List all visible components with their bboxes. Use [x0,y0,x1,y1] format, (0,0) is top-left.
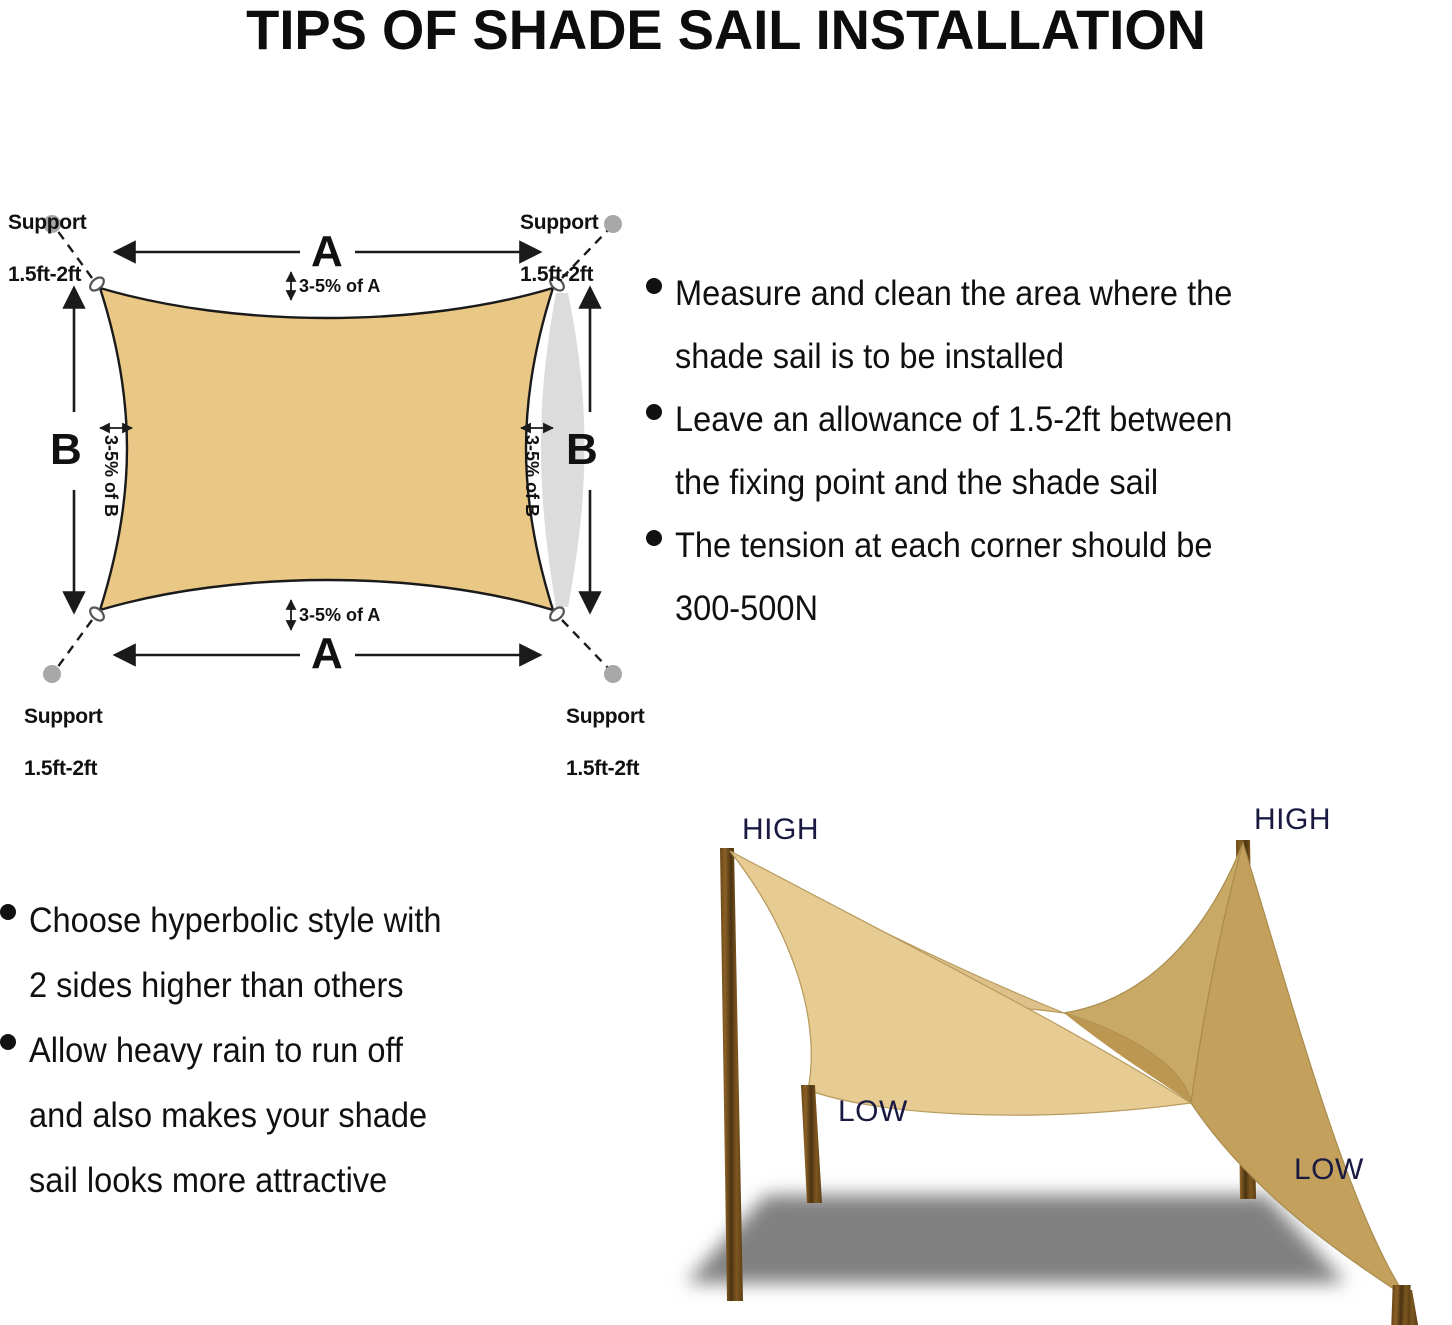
support-label-bottom-right: Support 1.5ft-2ft [566,678,644,782]
installation-tips-list: Measure and clean the area where the sha… [646,262,1452,640]
corner-label-high-left: HIGH [742,813,819,847]
support-label-line2: 1.5ft-2ft [8,263,81,286]
curve-depth-label-right: 3-5% of B [523,435,541,517]
corner-label-high-right: HIGH [1254,803,1331,837]
tip-text: The tension at each corner should be 300… [675,514,1398,640]
tip-text: Allow heavy rain to run off and also mak… [29,1018,588,1213]
support-label-line2: 1.5ft-2ft [24,757,97,780]
tip-text: Leave an allowance of 1.5-2ft between th… [675,388,1398,514]
infographic-page: TIPS OF SHADE SAIL INSTALLATION [0,0,1452,1325]
support-label-top-right: Support 1.5ft-2ft [520,184,598,288]
installation-tips-section: Measure and clean the area where the sha… [646,262,1452,662]
bullet-dot-icon [646,278,662,294]
dimension-label-b-left: B [50,428,82,472]
hyperbolic-tips-list: Choose hyperbolic style with 2 sides hig… [0,888,630,1213]
support-label-line1: Support [8,211,86,234]
list-item: Allow heavy rain to run off and also mak… [0,1018,630,1213]
dimension-label-b-right: B [566,428,598,472]
dimension-label-a-top: A [311,230,343,274]
list-item: The tension at each corner should be 300… [646,514,1452,640]
support-label-line1: Support [566,705,644,728]
support-post-back-left [720,848,743,1301]
dimension-label-a-bottom: A [311,632,343,676]
support-label-line2: 1.5ft-2ft [520,263,593,286]
hyperbolic-sail-svg [646,785,1452,1325]
bullet-dot-icon [0,1034,16,1050]
support-label-top-left: Support 1.5ft-2ft [8,184,86,288]
list-item: Leave an allowance of 1.5-2ft between th… [646,388,1452,514]
support-post-front-left [801,1085,822,1203]
bullet-dot-icon [646,530,662,546]
list-item: Choose hyperbolic style with 2 sides hig… [0,888,630,1018]
ground-shadow [686,1195,1346,1283]
hyperbolic-sail-illustration: HIGH HIGH LOW LOW [646,785,1452,1325]
support-label-line1: Support [24,705,102,728]
shade-sail-dimension-diagram: Support 1.5ft-2ft Support 1.5ft-2ft Supp… [0,160,660,740]
corner-label-low-left: LOW [838,1095,908,1129]
support-label-bottom-left: Support 1.5ft-2ft [24,678,102,782]
support-post-front-right-lower [1391,1285,1410,1325]
curve-depth-label-left: 3-5% of B [102,435,120,517]
hyperbolic-tips-section: Choose hyperbolic style with 2 sides hig… [0,888,630,1228]
tip-text: Choose hyperbolic style with 2 sides hig… [29,888,588,1018]
curve-depth-label-top: 3-5% of A [299,277,380,295]
bullet-dot-icon [0,904,16,920]
support-label-line2: 1.5ft-2ft [566,757,639,780]
page-title: TIPS OF SHADE SAIL INSTALLATION [22,2,1430,58]
bullet-dot-icon [646,404,662,420]
tip-text: Measure and clean the area where the sha… [675,262,1398,388]
support-label-line1: Support [520,211,598,234]
curve-depth-label-bottom: 3-5% of A [299,606,380,624]
corner-label-low-right: LOW [1294,1153,1364,1187]
sail-panel-left [730,851,1191,1115]
list-item: Measure and clean the area where the sha… [646,262,1452,388]
shade-sail-shape [100,288,553,610]
